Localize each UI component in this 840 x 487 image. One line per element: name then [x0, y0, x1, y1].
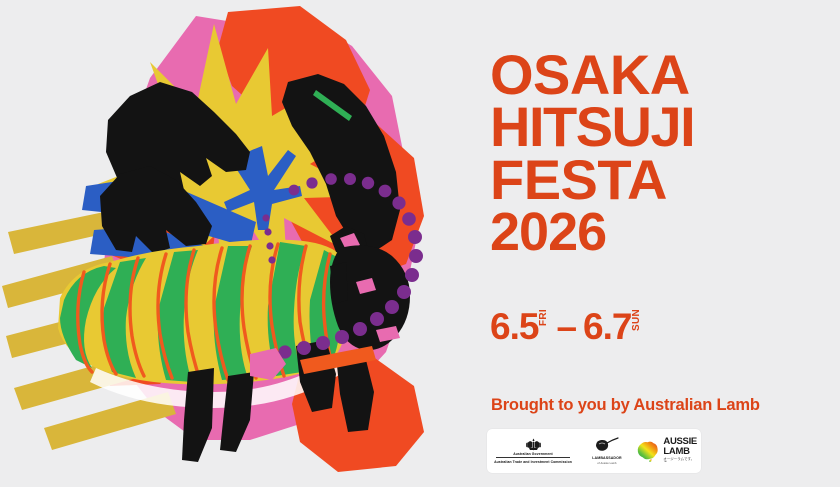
end-date: 6.7 — [583, 308, 631, 345]
lamb-chop-icon — [594, 437, 620, 454]
gov-logo-line1: Australian Government — [513, 452, 553, 456]
sponsor-tagline: Brought to you by Australian Lamb — [491, 396, 760, 415]
poster-canvas: OSAKA HITSUJI FESTA 2026 6.5 FRI – 6.7 S… — [0, 0, 840, 487]
logo-aussie-lamb: AUSSIE LAMB オージーラムです。™ — [635, 429, 697, 473]
end-day-label: SUN — [632, 309, 642, 331]
aussie-lamb-line2: LAMB — [663, 447, 697, 457]
artwork-illustration — [0, 0, 470, 487]
aussie-lamb-line3: オージーラムです。™ — [663, 458, 697, 465]
title-line-hitsuji: HITSUJI — [490, 102, 840, 152]
start-day-label: FRI — [539, 309, 549, 326]
title-line-festa: FESTA — [490, 155, 840, 205]
logo-australian-government: Australian Government Australian Trade a… — [487, 429, 579, 473]
gov-logo-divider — [496, 457, 570, 458]
poster-title: OSAKA HITSUJI FESTA 2026 — [490, 50, 840, 257]
lambassador-logo-line1: LAMBASSADOR — [592, 456, 621, 460]
title-line-osaka: OSAKA — [490, 50, 840, 100]
australia-map-gradient-icon — [635, 439, 660, 463]
text-column: OSAKA HITSUJI FESTA 2026 6.5 FRI – 6.7 S… — [490, 0, 840, 487]
aussie-lamb-wordmark: AUSSIE LAMB オージーラムです。™ — [663, 437, 697, 464]
lambassador-logo-line2: of Aussie Lamb — [597, 462, 616, 465]
date-separator: – — [556, 308, 576, 345]
title-line-year: 2026 — [490, 208, 840, 257]
collage-svg — [0, 0, 470, 487]
logo-lambassador: LAMBASSADOR of Aussie Lamb — [579, 429, 635, 473]
gov-logo-line2: Australian Trade and Investment Commissi… — [494, 460, 572, 464]
event-dates: 6.5 FRI – 6.7 SUN — [490, 308, 642, 345]
start-date: 6.5 — [490, 308, 538, 345]
sponsor-logo-strip: Australian Government Australian Trade a… — [487, 429, 701, 473]
australian-coat-of-arms-icon — [525, 438, 542, 451]
